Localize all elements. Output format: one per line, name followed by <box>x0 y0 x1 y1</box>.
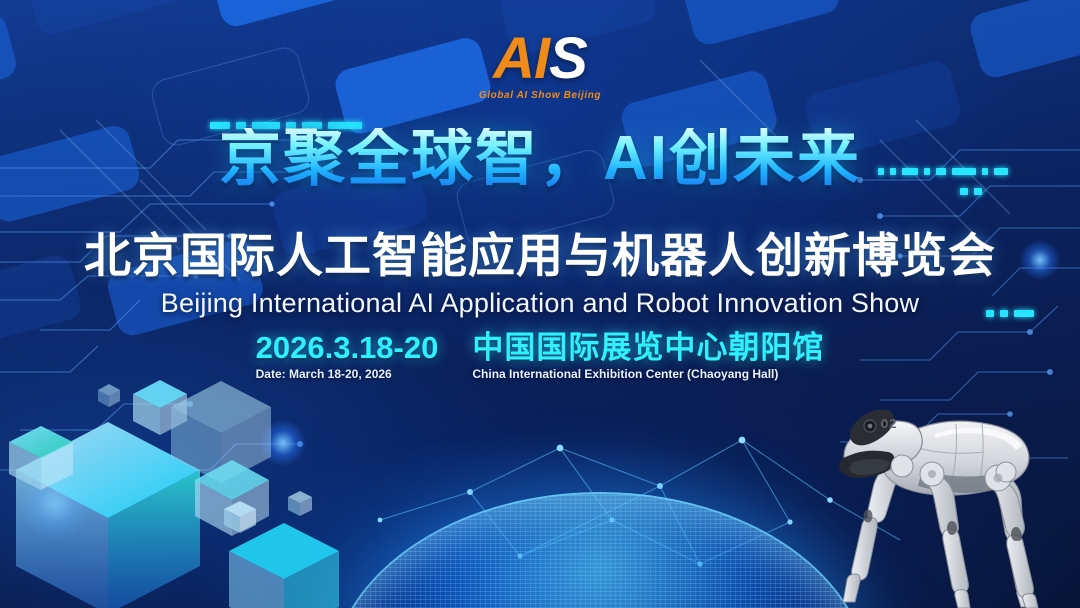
robot-unit-number: 02 <box>881 416 897 431</box>
event-title-chinese: 北京国际人工智能应用与机器人创新博览会 <box>0 232 1080 279</box>
iso-cube-tiny-a <box>222 500 258 541</box>
event-title-english: Beijing International AI Application and… <box>0 288 1080 319</box>
event-info-row: 2026.3.18-20 Date: March 18-20, 2026 中国国… <box>0 331 1080 381</box>
poster-canvas: AIS Global AI Show Beijing 京聚全球智，AI创未来 北… <box>0 0 1080 608</box>
iso-cube-tiny-c <box>96 383 122 414</box>
iso-cube-tiny-b <box>286 490 314 523</box>
event-venue-block: 中国国际展览中心朝阳馆 China International Exhibiti… <box>472 331 824 381</box>
event-date-primary: 2026.3.18-20 <box>256 331 439 364</box>
logo-tagline: Global AI Show Beijing <box>0 90 1080 101</box>
logo-wordmark: AIS <box>0 30 1080 88</box>
logo-s-text: S <box>549 26 587 91</box>
iso-cube-small-left <box>6 424 76 499</box>
event-venue-primary: 中国国际展览中心朝阳馆 <box>472 331 824 364</box>
ais-logo: AIS Global AI Show Beijing <box>0 30 1080 101</box>
event-date-block: 2026.3.18-20 Date: March 18-20, 2026 <box>256 331 439 381</box>
logo-ai-text: AI <box>493 26 549 91</box>
event-date-secondary: Date: March 18-20, 2026 <box>256 367 439 381</box>
event-venue-secondary: China International Exhibition Center (C… <box>472 367 824 381</box>
headline-slogan: 京聚全球智，AI创未来 <box>0 128 1080 190</box>
quadruped-robot-dog: 02 <box>806 378 1080 608</box>
